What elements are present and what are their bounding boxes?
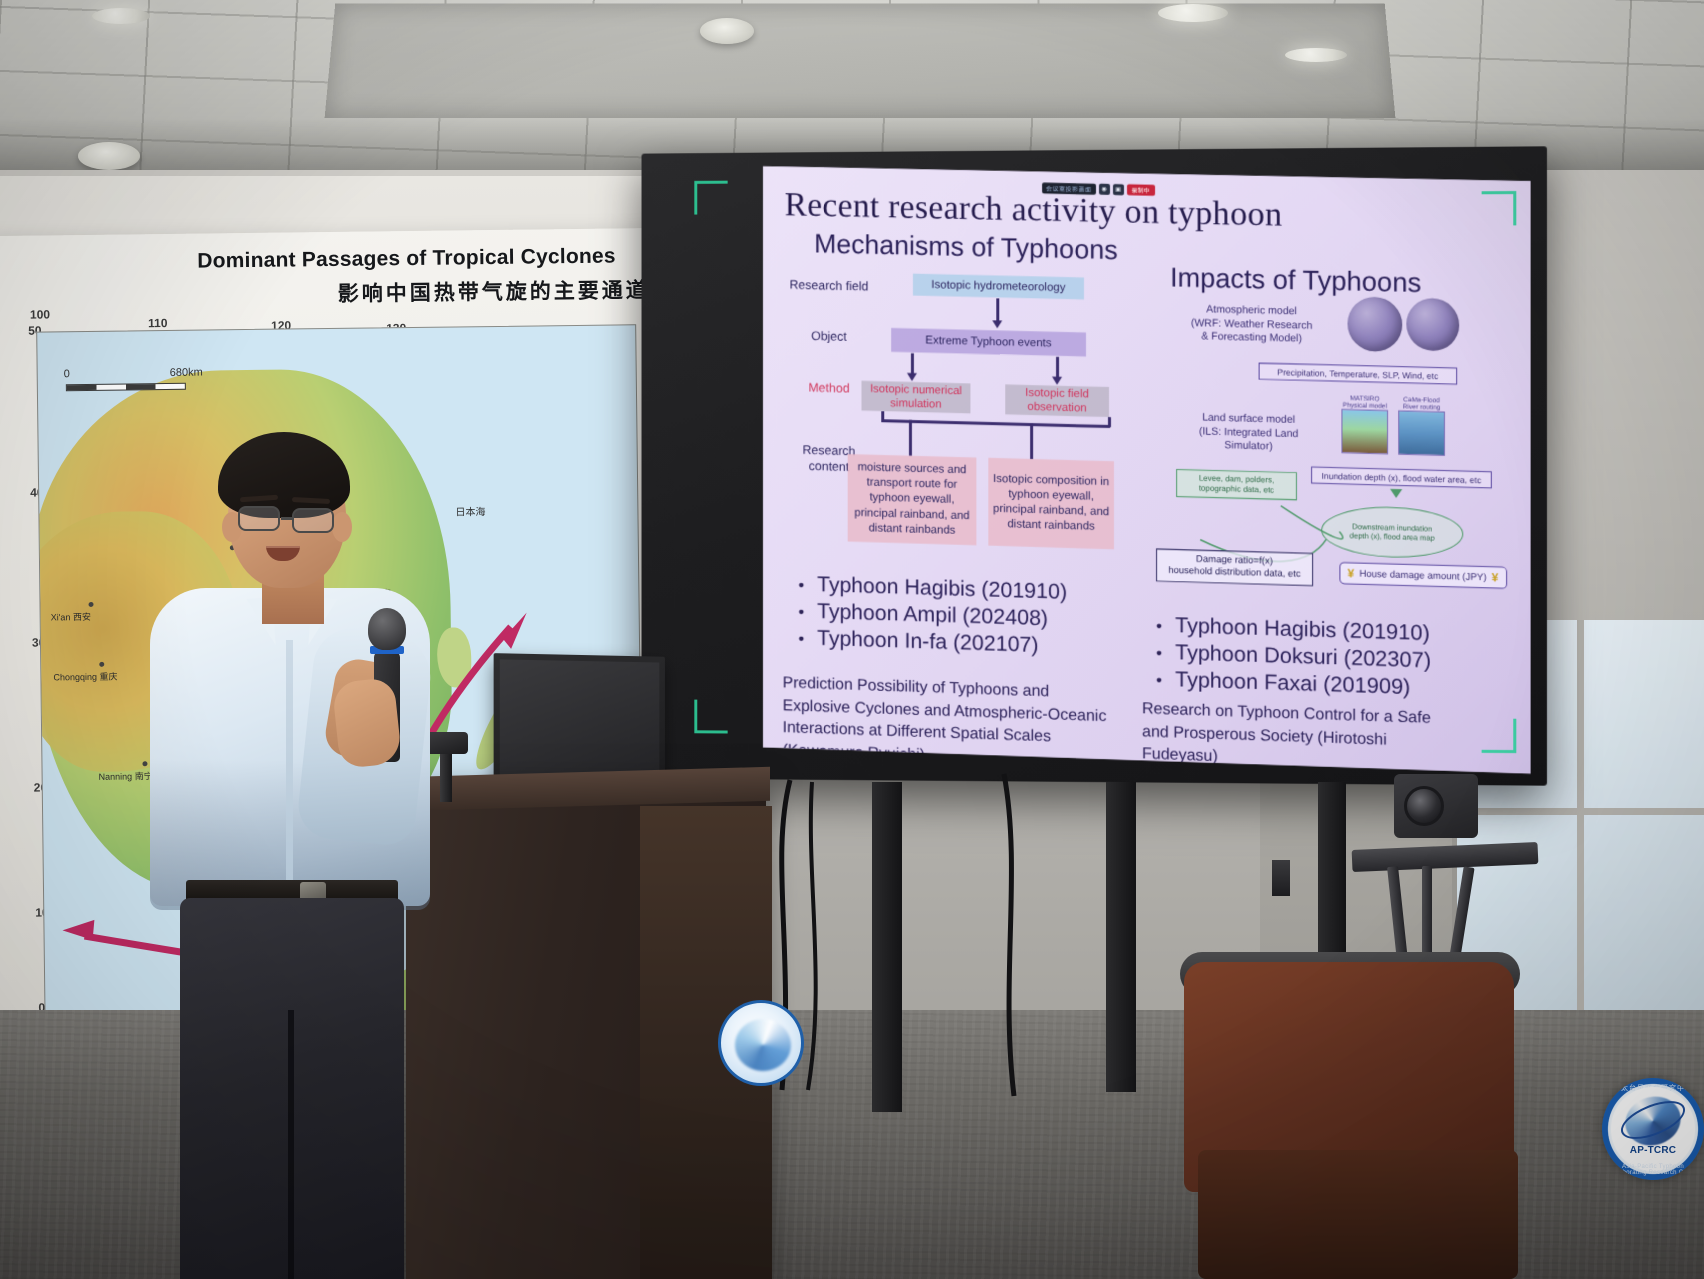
impacts-damage-ratio-box: Damage ratio=f(x)household distribution …	[1156, 548, 1313, 585]
map-lat-label: 100	[30, 307, 50, 321]
slide-footer-right: Research on Typhoon Control for a Safe a…	[1142, 698, 1445, 774]
handheld-mic-head-icon	[368, 608, 406, 650]
map-city-label: Chongqing 重庆	[53, 670, 117, 684]
impacts-land-surface-model-caption: Land surface model(ILS: Integrated LandS…	[1158, 410, 1339, 456]
speaker-glasses-left-lens	[238, 506, 280, 531]
impacts-atm-output-box: Precipitation, Temperature, SLP, Wind, e…	[1259, 363, 1458, 385]
secondary-monitor-screen[interactable]	[500, 659, 660, 778]
flow-connector-bus	[881, 419, 1110, 428]
flow-connector-drop	[909, 420, 912, 456]
globe-thumbnail-icon	[1348, 296, 1403, 352]
slide-heading-mechanisms: Mechanisms of Typhoons	[814, 229, 1118, 266]
yen-icon: ¥	[1348, 566, 1355, 580]
speaker-ear	[332, 512, 352, 542]
ceiling-light-icon	[92, 8, 150, 24]
flow-row-label-object: Object	[775, 328, 883, 346]
flow-connector-stub	[1108, 417, 1111, 427]
wall-mount-bracket	[1272, 860, 1290, 896]
flow-arrow-head-icon	[992, 320, 1002, 328]
camaflood-thumbnail	[1398, 410, 1445, 456]
map-scale-zero: 0	[64, 368, 70, 380]
chair-seat[interactable]	[1198, 1150, 1518, 1279]
map-scale-label: 680km	[170, 367, 203, 379]
podium-emblem	[718, 1000, 804, 1086]
map-city-dot	[142, 761, 147, 766]
flow-node-isotopic-field-observation: Isotopic fieldobservation	[1005, 384, 1109, 417]
globe-thumbnail-icon	[1406, 298, 1459, 352]
bullet-label: Typhoon Faxai (201909)	[1175, 667, 1410, 700]
flow-node-isotopic-hydrometeorology: Isotopic hydrometeorology	[913, 274, 1084, 300]
flow-node-isotopic-numerical-simulation: Isotopic numericalsimulation	[862, 381, 971, 414]
presentation-display[interactable]: Recent research activity on typhoon 会议室投…	[642, 146, 1547, 785]
flow-arrow-line	[1056, 357, 1059, 379]
slide-heading-impacts: Impacts of Typhoons	[1170, 262, 1421, 299]
logo-abbrev: AP-TCRC	[1611, 1145, 1695, 1156]
flow-node-moisture-sources: moisture sources andtransport route fort…	[848, 454, 977, 545]
logo-arc-text-en: Asia-Pacific Typhoon Collaborating Resea…	[1602, 1164, 1704, 1176]
mic-icon: ◉	[1099, 184, 1110, 195]
map-city-dot	[99, 662, 104, 667]
bullet-icon: •	[798, 604, 804, 621]
map-title-cn: 影响中国热带气旋的主要通道	[338, 272, 677, 308]
mic-stand-clamp	[424, 732, 468, 754]
speaker-trousers-seam	[288, 1010, 294, 1279]
bullets-impacts: • Typhoon Hagibis (201910) • Typhoon Dok…	[1156, 613, 1431, 703]
flow-arrow-line	[911, 353, 914, 375]
display-corner-marker	[1482, 191, 1517, 226]
ceiling-recess-panel	[325, 3, 1396, 118]
display-osd-overlay: 会议室投影画面 ◉ ▣ 录制中	[1042, 182, 1155, 197]
display-screen[interactable]: Recent research activity on typhoon 会议室投…	[763, 166, 1531, 774]
flow-arrow-line	[996, 298, 999, 322]
camera-lens-icon	[1404, 786, 1444, 826]
presentation-photo-scene: Dominant Passages of Tropical Cyclones 影…	[0, 0, 1704, 1279]
matsiro-caption: MATSIROPhysical model	[1335, 395, 1394, 411]
flow-connector-stub	[881, 411, 884, 421]
flow-node-extreme-typhoon-events: Extreme Typhoon events	[891, 328, 1086, 357]
smoke-detector-icon	[78, 142, 140, 170]
camera-icon: ▣	[1113, 184, 1124, 195]
speaker-hand	[332, 677, 403, 769]
matsiro-thumbnail	[1341, 409, 1388, 455]
bullet-icon: •	[1156, 672, 1162, 689]
speaker-glasses-bridge	[281, 517, 293, 520]
logo-inner-disc: AP-TCRC	[1611, 1087, 1695, 1171]
smoke-detector-icon	[700, 18, 754, 44]
impacts-atmospheric-model-caption: Atmospheric model(WRF: Weather Research&…	[1156, 302, 1347, 348]
ceiling-light-icon	[1285, 48, 1347, 62]
window-mullion	[1577, 620, 1584, 1020]
map-city-label: Xi'an 西安	[51, 610, 91, 623]
flow-arrow-head-icon	[1052, 377, 1062, 385]
map-title-en: Dominant Passages of Tropical Cyclones	[197, 243, 677, 273]
osd-source-chip: 会议室投影画面	[1042, 183, 1095, 195]
display-stand-leg	[1106, 782, 1136, 1092]
bullet-label: Typhoon In-fa (202107)	[817, 626, 1039, 658]
map-scale-bar	[66, 383, 186, 391]
flow-node-isotopic-composition: Isotopic composition intyphoon eyewall,p…	[988, 458, 1114, 549]
display-cables	[760, 770, 1080, 1100]
flow-arrow-head-icon	[907, 373, 917, 381]
speaker-shirt-placket	[286, 640, 293, 890]
map-lon-tick: 110	[148, 316, 168, 330]
bullet-icon: •	[798, 577, 804, 594]
bullet-icon: •	[798, 630, 804, 647]
slide-content: Recent research activity on typhoon 会议室投…	[763, 166, 1531, 774]
camaflood-caption: CaMa-FloodRiver routing	[1392, 396, 1451, 412]
speaker-glasses-right-lens	[292, 508, 334, 533]
bullet-icon: •	[1156, 645, 1162, 662]
display-corner-marker	[694, 700, 727, 734]
podium-emblem-swirl-icon	[735, 1019, 791, 1071]
map-city-label: Nanning 南宁	[99, 769, 153, 783]
aptcrc-watermark-logo: 亚太台风联合研究中心 AP-TCRC Asia-Pacific Typhoon …	[1602, 1078, 1704, 1180]
slide-footer-left: Prediction Possibility of Typhoons and E…	[783, 673, 1110, 774]
impacts-house-damage-label: House damage amount (JPY)	[1359, 568, 1486, 583]
flow-connector-drop	[1030, 423, 1033, 459]
display-corner-marker	[1482, 719, 1517, 754]
bullet-icon: •	[1156, 618, 1162, 635]
map-city-dot	[88, 602, 93, 607]
map-sea-label: 日本海	[455, 503, 485, 518]
flow-row-label-research-field: Research field	[775, 277, 883, 295]
display-corner-marker	[694, 181, 727, 215]
bullets-mechanisms: • Typhoon Hagibis (201910) • Typhoon Amp…	[798, 572, 1067, 661]
yen-icon: ¥	[1492, 570, 1499, 584]
osd-recording-chip: 录制中	[1127, 184, 1155, 196]
ceiling-light-icon	[1158, 4, 1228, 22]
